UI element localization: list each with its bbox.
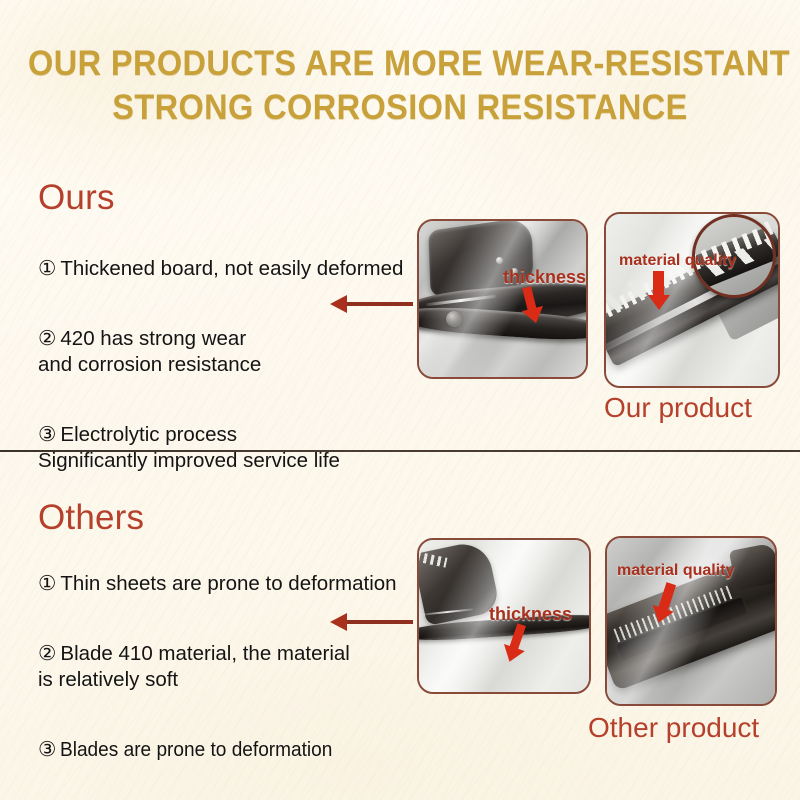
photo-label-material-quality: material quality [617,562,734,580]
comparison-infographic: OUR PRODUCTS ARE MORE WEAR-RESISTANT STR… [0,0,800,800]
page-title-line-2: STRONG CORROSION RESISTANCE [28,86,772,130]
head-teeth [419,552,447,568]
list-item-number: ① [38,257,56,280]
list-item: ②Blade 410 material, the material is rel… [38,615,418,693]
section-divider [0,450,800,452]
list-item: ③Blades are prone to deformation [38,711,418,763]
section-heading-ours: Ours [38,178,115,218]
product-photo-card-others-material: material quality [605,536,777,706]
list-item: ②420 has strong wear and corrosion resis… [38,300,418,378]
rivet-icon [496,257,503,264]
list-item-text: 420 has strong wear and corrosion resist… [38,327,261,376]
product-photo-others-thickness: thickness [419,540,589,692]
left-arrow-icon [345,620,413,624]
product-photo-card-ours-thickness: thickness [417,219,588,379]
caption-other-product: Other product [588,712,759,744]
product-photo-card-ours-material: material quality [604,212,780,388]
product-photo-card-others-thickness: thickness [417,538,591,694]
photo-label-thickness: thickness [489,604,572,625]
page-title: OUR PRODUCTS ARE MORE WEAR-RESISTANT STR… [28,42,772,130]
list-item-text: Blades are prone to deformation [60,737,332,763]
list-item-number: ③ [38,738,56,761]
product-photo-ours-material: material quality [606,214,778,386]
photo-label-thickness: thickness [503,267,586,288]
list-item-number: ② [38,642,56,665]
bullet-list-others: ①Thin sheets are prone to deformation ②B… [38,545,418,781]
list-item-number: ③ [38,423,56,446]
peeler-nose [728,543,775,591]
list-item-text: Electrolytic process Significantly impro… [38,423,340,472]
list-item-number: ① [38,572,56,595]
caption-our-product: Our product [604,392,752,424]
down-arrow-icon [653,271,664,297]
list-item-text: Thickened board, not easily deformed [60,257,403,280]
bullet-list-ours: ①Thickened board, not easily deformed ②4… [38,230,418,492]
list-item: ①Thin sheets are prone to deformation [38,545,418,597]
list-item: ①Thickened board, not easily deformed [38,230,418,282]
section-heading-others: Others [38,498,144,538]
page-title-line-1: OUR PRODUCTS ARE MORE WEAR-RESISTANT [28,42,772,86]
product-photo-ours-thickness: thickness [419,221,586,377]
list-item-text: Blade 410 material, the material is rela… [38,642,350,691]
photo-label-material-quality: material quality [619,252,736,270]
list-item-number: ② [38,327,56,350]
product-photo-others-material: material quality [607,538,775,704]
list-item-text: Thin sheets are prone to deformation [60,572,396,595]
list-item: ③Electrolytic process Significantly impr… [38,396,418,474]
left-arrow-icon [345,302,413,306]
